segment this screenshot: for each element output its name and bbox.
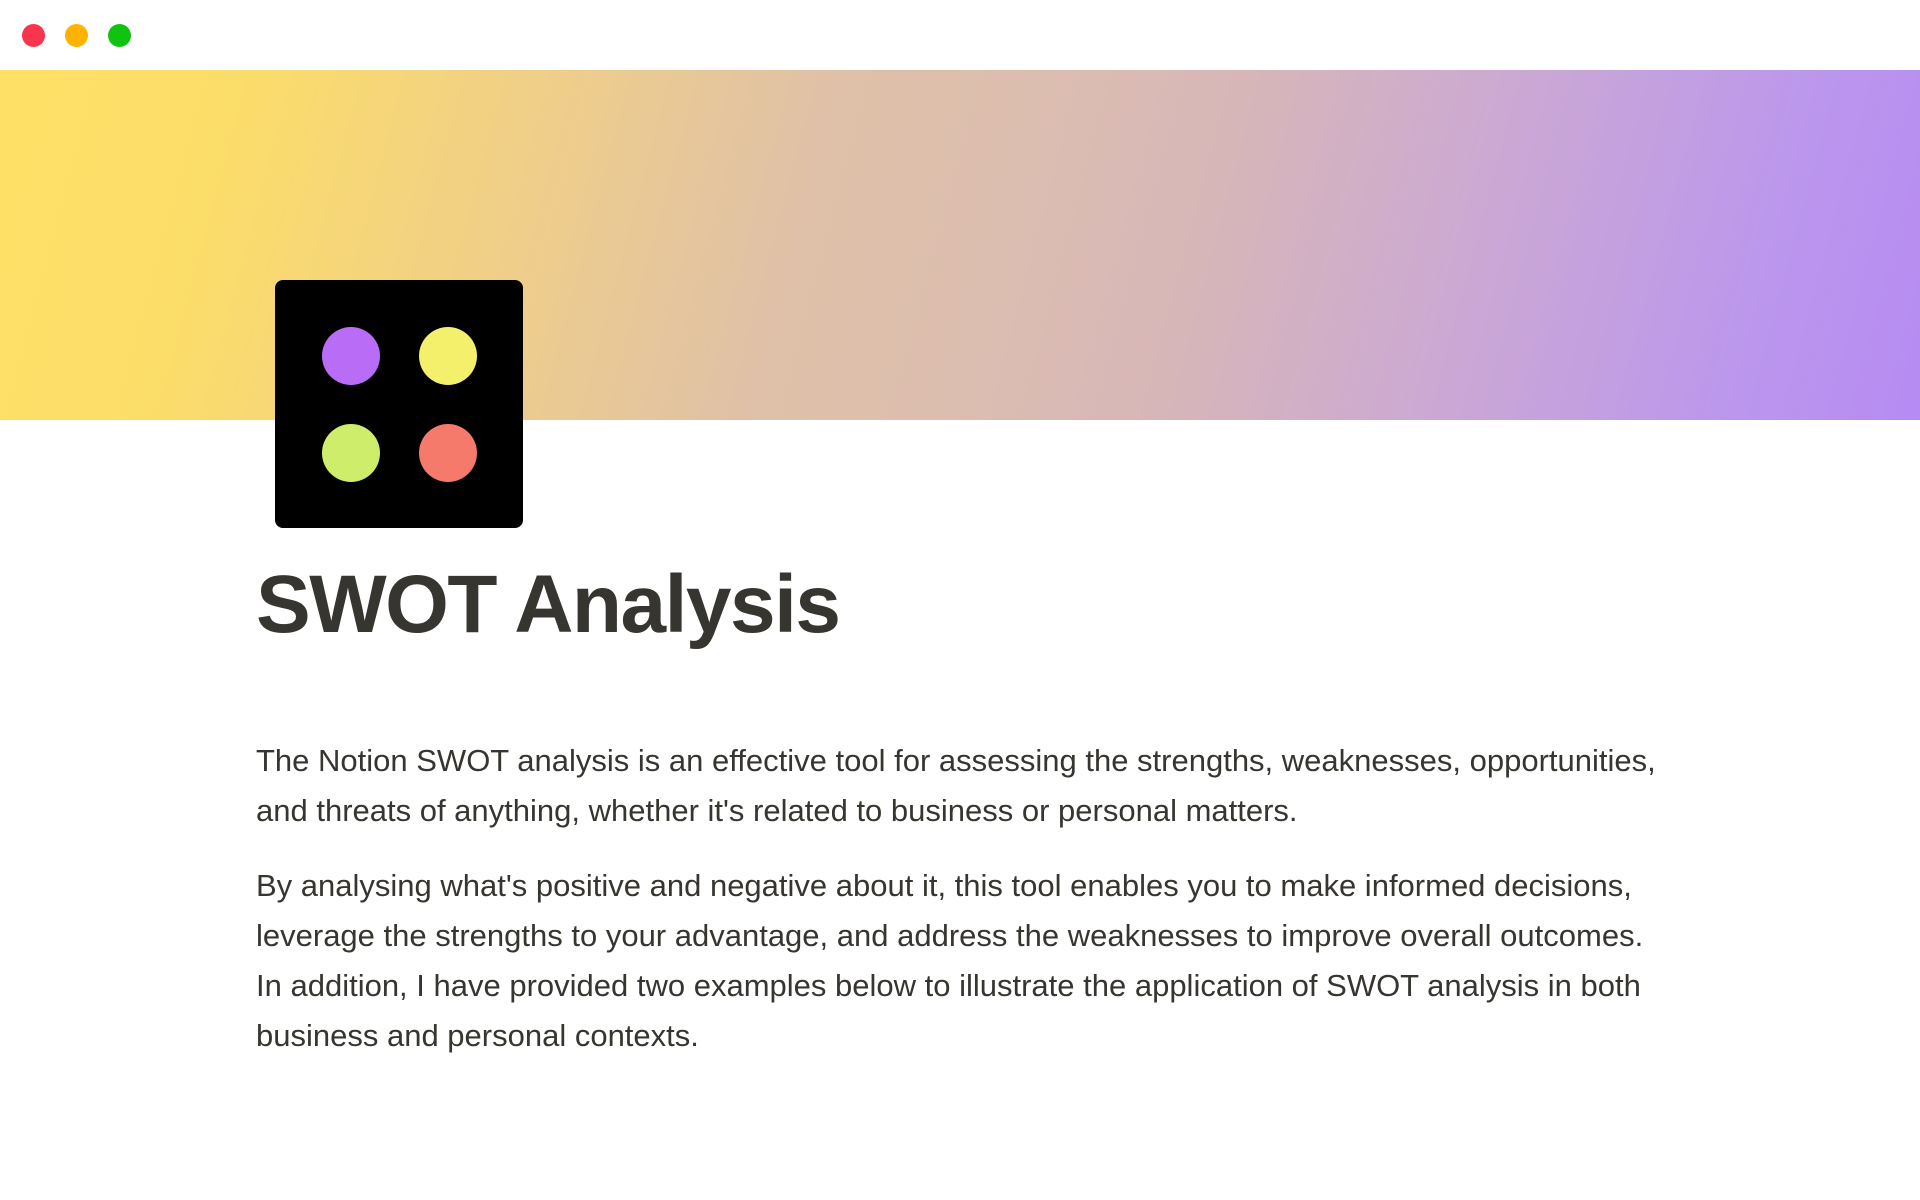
- page-content: SWOT Analysis The Notion SWOT analysis i…: [0, 560, 1920, 1062]
- page-icon-cell-bottom-right: [408, 413, 487, 492]
- page-icon-cell-top-left: [311, 316, 390, 395]
- zoom-window-button[interactable]: [108, 24, 131, 47]
- traffic-light-controls: [22, 24, 131, 47]
- page-title[interactable]: SWOT Analysis: [256, 560, 1664, 650]
- close-window-button[interactable]: [22, 24, 45, 47]
- salmon-circle-icon: [419, 424, 477, 482]
- page-icon-cell-top-right: [408, 316, 487, 395]
- page-icon[interactable]: [275, 280, 523, 528]
- intro-paragraph-2[interactable]: By analysing what's positive and negativ…: [256, 861, 1660, 1062]
- purple-circle-icon: [322, 327, 380, 385]
- page-icon-cell-bottom-left: [311, 413, 390, 492]
- minimize-window-button[interactable]: [65, 24, 88, 47]
- window-titlebar: [0, 0, 1920, 70]
- intro-paragraph-1[interactable]: The Notion SWOT analysis is an effective…: [256, 736, 1660, 836]
- app-window: SWOT Analysis The Notion SWOT analysis i…: [0, 0, 1920, 1200]
- yellow-circle-icon: [419, 327, 477, 385]
- lime-circle-icon: [322, 424, 380, 482]
